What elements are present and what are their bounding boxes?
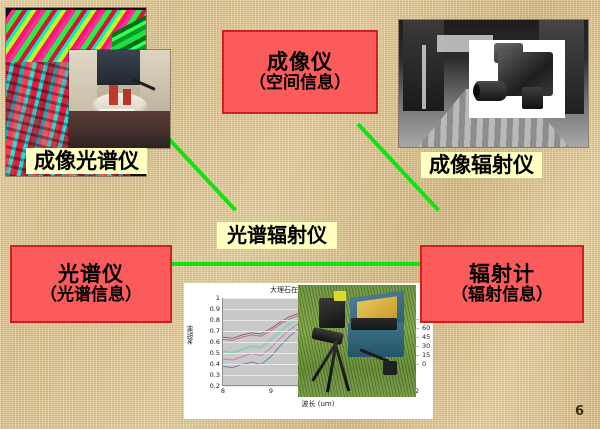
photo-case-body <box>348 323 405 357</box>
label-spectroradiometer: 光谱辐射仪 <box>217 222 337 249</box>
spectrometer-instrument-photo <box>69 50 170 148</box>
concept-box-spectrometer[interactable]: 光谱仪 （光谱信息） <box>10 245 172 323</box>
connector-line-bottom <box>172 262 440 266</box>
chart-legend-item: 15 <box>416 351 433 360</box>
concept-box-radiometer-title: 辐射计 <box>469 263 535 287</box>
label-imaging-spectrometer: 成像光谱仪 <box>26 148 147 174</box>
chart-legend-item: 45 <box>416 333 433 342</box>
camera-lens <box>475 81 508 101</box>
chart-y-tick: 0.5 <box>210 349 220 357</box>
chart-x-axis-label: 波长 (um) <box>222 399 414 409</box>
concept-box-imager-title: 成像仪 <box>267 51 333 75</box>
emissivity-chart: 大理石在不同观测天顶角 发射率 10.90.80.70.60.50.40.30.… <box>184 283 433 419</box>
concept-box-radiometer[interactable]: 辐射计 （辐射信息） <box>420 245 584 323</box>
chart-y-axis-label: 发射率 <box>186 325 196 345</box>
presentation-slide: 成像光谱仪 成像辐射仪 成像仪 （空间信息） 光谱仪 （光谱信息） 辐射计 （辐… <box>0 0 600 429</box>
photo-bench <box>69 111 170 148</box>
concept-box-spectrometer-subtitle: （光谱信息） <box>40 286 142 305</box>
thermal-pole <box>422 45 427 109</box>
chart-legend: 75604530150 <box>416 315 433 369</box>
thermal-road-image <box>399 20 588 147</box>
chart-legend-item: 30 <box>416 342 433 351</box>
concept-box-imager[interactable]: 成像仪 （空间信息） <box>222 30 378 114</box>
chart-legend-item: 60 <box>416 324 433 333</box>
concept-box-spectrometer-title: 光谱仪 <box>58 263 124 287</box>
chart-y-tick: 0.4 <box>210 360 220 368</box>
chart-x-tick: 8 <box>221 387 225 395</box>
field-spectroradiometer-photo <box>298 285 416 397</box>
chart-legend-item: 0 <box>416 360 433 369</box>
chart-y-tick: 0.9 <box>210 305 220 313</box>
chart-y-tick: 0.7 <box>210 327 220 335</box>
photo-red-component-1 <box>109 85 118 105</box>
photo-accessory-box <box>383 361 397 374</box>
chart-y-tick: 0.6 <box>210 338 220 346</box>
chart-x-tick: 9 <box>269 387 273 395</box>
photo-red-component-2 <box>123 89 131 105</box>
page-number: 6 <box>575 404 584 419</box>
photo-sensor-head <box>319 298 345 327</box>
thermal-camera-photo <box>469 40 565 118</box>
label-imaging-radiometer: 成像辐射仪 <box>421 152 542 178</box>
chart-y-tick: 0.2 <box>210 382 220 390</box>
camera-grip <box>522 87 543 109</box>
concept-box-radiometer-subtitle: （辐射信息） <box>451 286 553 305</box>
chart-y-tick: 0.3 <box>210 371 220 379</box>
concept-box-imager-subtitle: （空间信息） <box>249 74 351 93</box>
chart-y-tick: 1 <box>216 294 220 302</box>
chart-y-tick: 0.8 <box>210 316 220 324</box>
